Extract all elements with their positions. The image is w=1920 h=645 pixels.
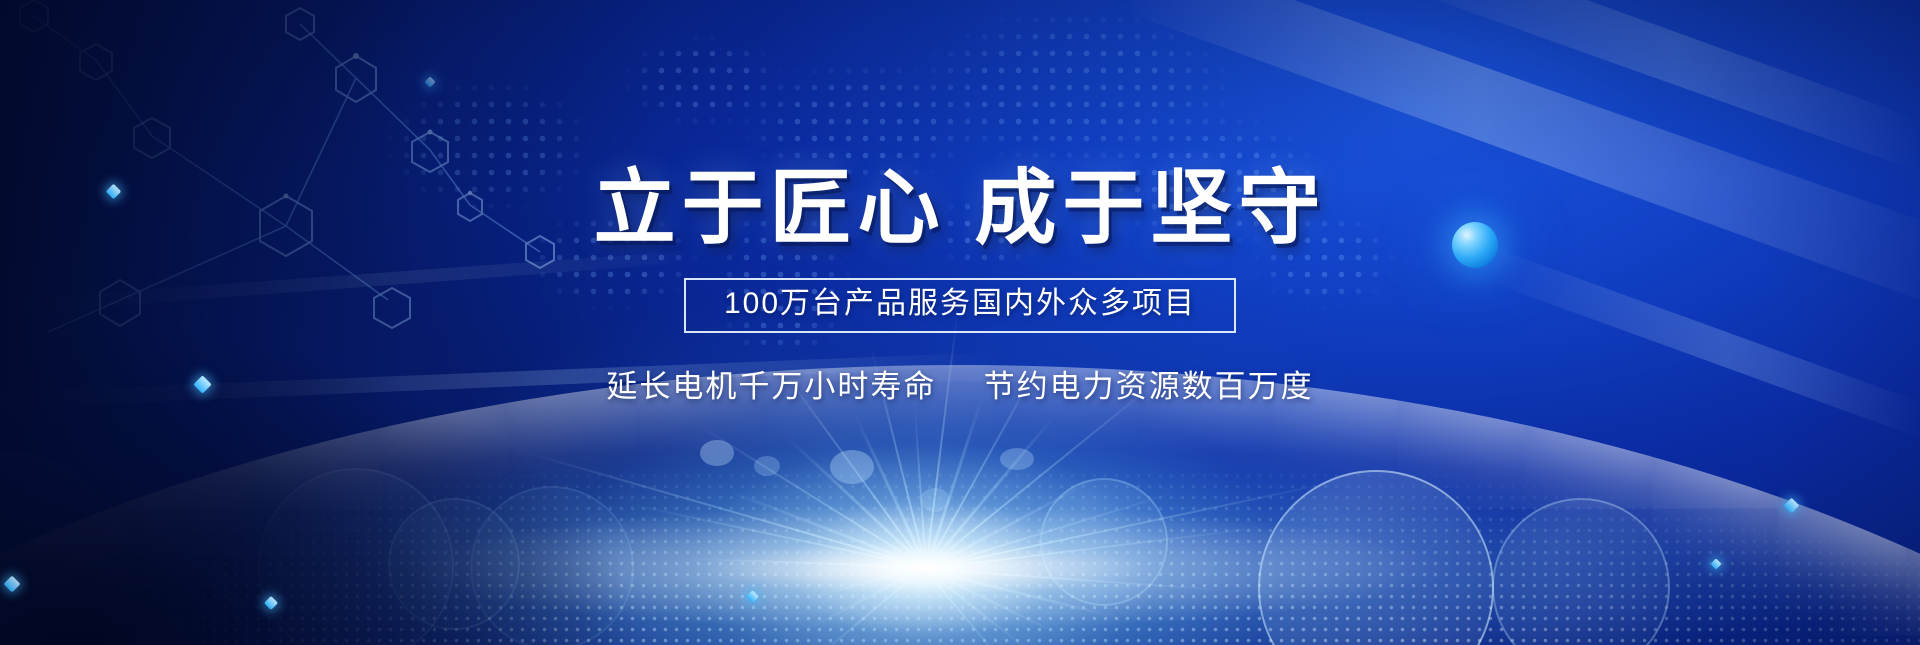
banner-badge-text: 100万台产品服务国内外众多项目	[724, 289, 1196, 319]
tagline-left-text: 延长电机千万小时寿命	[606, 369, 936, 404]
hero-banner: 立于匠心 成于坚守 100万台产品服务国内外众多项目 延长电机千万小时寿命 节约…	[0, 0, 1920, 645]
banner-headline: 立于匠心 成于坚守	[594, 168, 1327, 250]
tagline-right-text: 节约电力资源数百万度	[984, 369, 1314, 404]
banner-tagline: 延长电机千万小时寿命 节约电力资源数百万度	[606, 361, 1313, 406]
banner-badge-box: 100万台产品服务国内外众多项目	[684, 278, 1236, 333]
banner-content: 立于匠心 成于坚守 100万台产品服务国内外众多项目 延长电机千万小时寿命 节约…	[0, 0, 1920, 645]
